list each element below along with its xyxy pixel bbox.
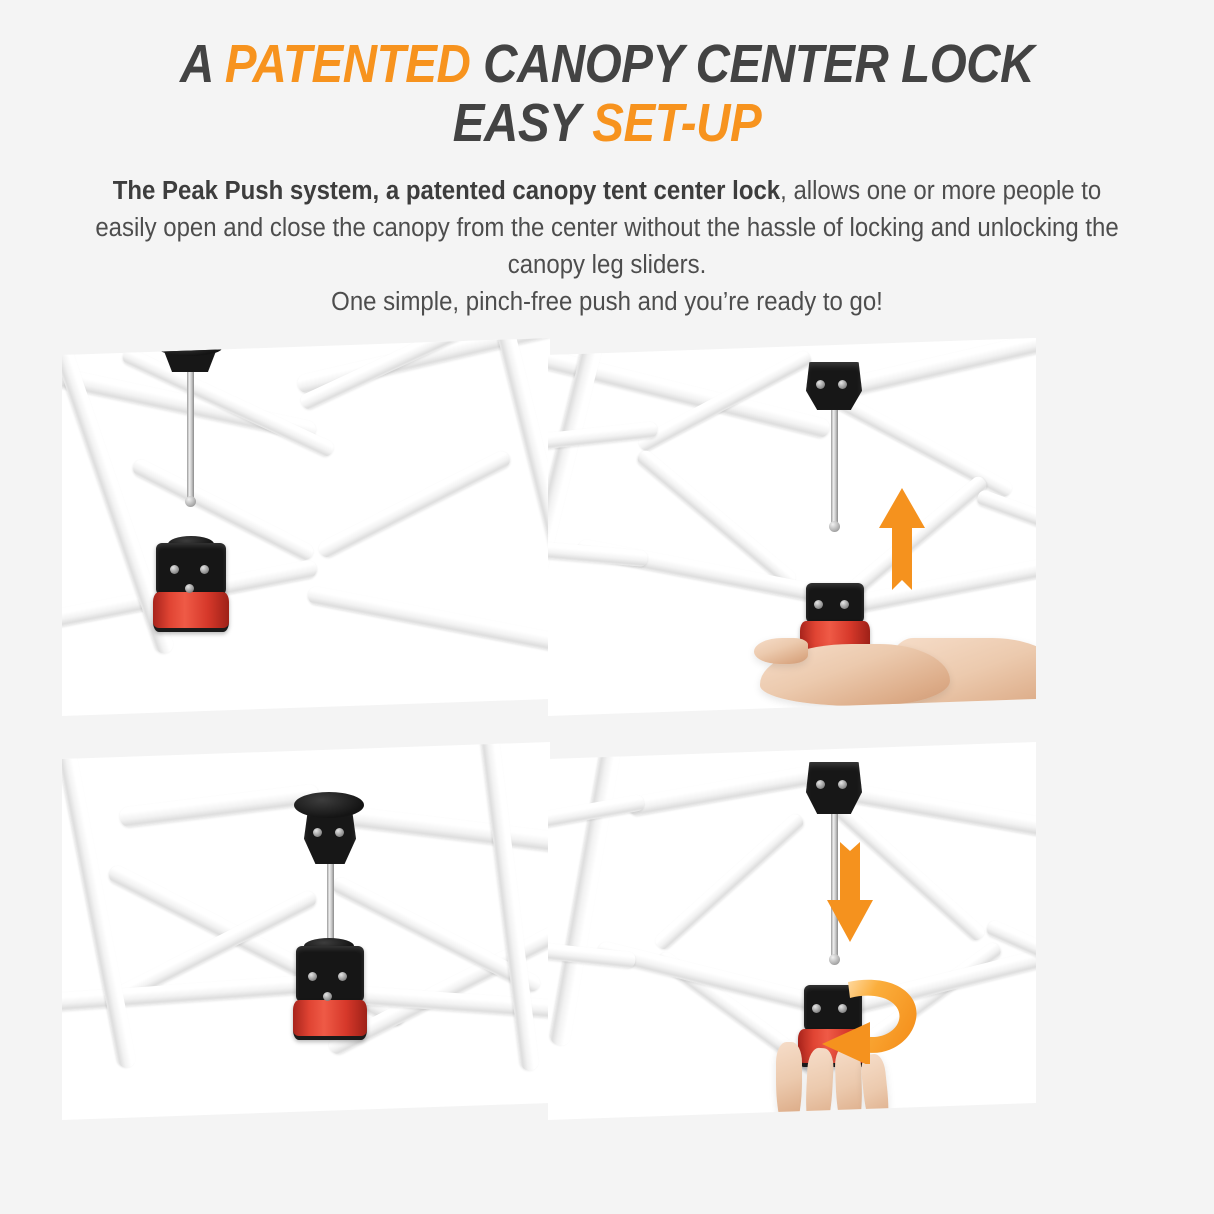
top-hub-bolt-left — [816, 780, 825, 789]
tube-brace-far-right — [975, 488, 1036, 544]
tube-scissor-right — [316, 449, 513, 560]
panel-3-scene — [62, 742, 550, 1120]
tube-peak-left — [119, 784, 320, 828]
top-hub-cap-icon — [158, 340, 222, 356]
tube-leg-left — [62, 742, 137, 1069]
panel-4-scene — [548, 742, 1036, 1120]
red-center-lock — [293, 1000, 367, 1040]
tube-diamond-left-upper — [653, 812, 806, 952]
panel-1-canopy-open — [62, 338, 550, 716]
top-hub-bolt-left — [816, 380, 825, 389]
infographic-header: A PATENTED CANOPY CENTER LOCK EASY SET-U… — [0, 0, 1214, 320]
panel-4-twist-release — [548, 742, 1036, 1120]
description-paragraph: The Peak Push system, a patented canopy … — [93, 173, 1121, 320]
description-lead: The Peak Push system, a patented canopy … — [113, 177, 780, 205]
hub-bolt-right — [338, 972, 347, 981]
tube-eave-right — [306, 585, 550, 658]
hub-bolt-left — [814, 600, 823, 609]
push-rod — [831, 406, 838, 526]
top-hub-cap-icon — [294, 792, 364, 818]
top-hub-bolt-left — [313, 828, 322, 837]
hub-bolt-left — [308, 972, 317, 981]
hub-bolt-right — [200, 565, 209, 574]
push-rod-tip — [829, 521, 840, 532]
title-text-c: EASY — [453, 93, 593, 153]
red-center-lock — [153, 592, 229, 632]
panel-1-scene — [62, 338, 550, 716]
tube-leg-right — [480, 742, 539, 1072]
hand-thumb — [754, 638, 808, 664]
top-hub — [806, 362, 862, 410]
hub-bolt-left — [170, 565, 179, 574]
arrow-down-icon — [826, 842, 874, 942]
tube-brace-far-left-2 — [548, 938, 636, 969]
title-highlight-patented: PATENTED — [225, 34, 471, 94]
hub-bolt-right — [840, 600, 849, 609]
push-rod-short — [327, 860, 334, 942]
hub-bolt-center — [185, 584, 194, 593]
panel-3-canopy-locked — [62, 742, 550, 1120]
panel-grid — [0, 330, 1214, 1150]
top-hub-bolt-right — [335, 828, 344, 837]
page-title-line-2: EASY SET-UP — [126, 95, 1089, 152]
hub-bolt-center — [323, 992, 332, 1001]
push-rod-tip — [185, 496, 196, 507]
panel-2-scene — [548, 338, 1036, 716]
panel-2-hand-push-up — [548, 338, 1036, 716]
description-final-line: One simple, pinch-free push and you’re r… — [331, 288, 883, 316]
tube-diamond-left-upper — [636, 349, 813, 453]
tube-leg-right — [497, 338, 550, 662]
tube-peak-left — [626, 763, 826, 816]
title-highlight-setup: SET-UP — [592, 93, 761, 153]
arrow-rotate-icon — [786, 974, 926, 1064]
title-text-a: A — [180, 34, 225, 94]
tube-leg-far-left — [549, 742, 626, 1047]
tube-diamond-right-upper — [830, 391, 1014, 499]
push-rod — [187, 368, 194, 500]
top-hub-bolt-right — [838, 380, 847, 389]
arrow-up-icon — [878, 488, 926, 598]
push-rod-tip — [829, 954, 840, 965]
title-text-b: CANOPY CENTER LOCK — [470, 34, 1034, 94]
top-hub-bolt-right — [838, 780, 847, 789]
page-title-line-1: A PATENTED CANOPY CENTER LOCK — [126, 36, 1089, 93]
top-hub — [806, 762, 862, 814]
